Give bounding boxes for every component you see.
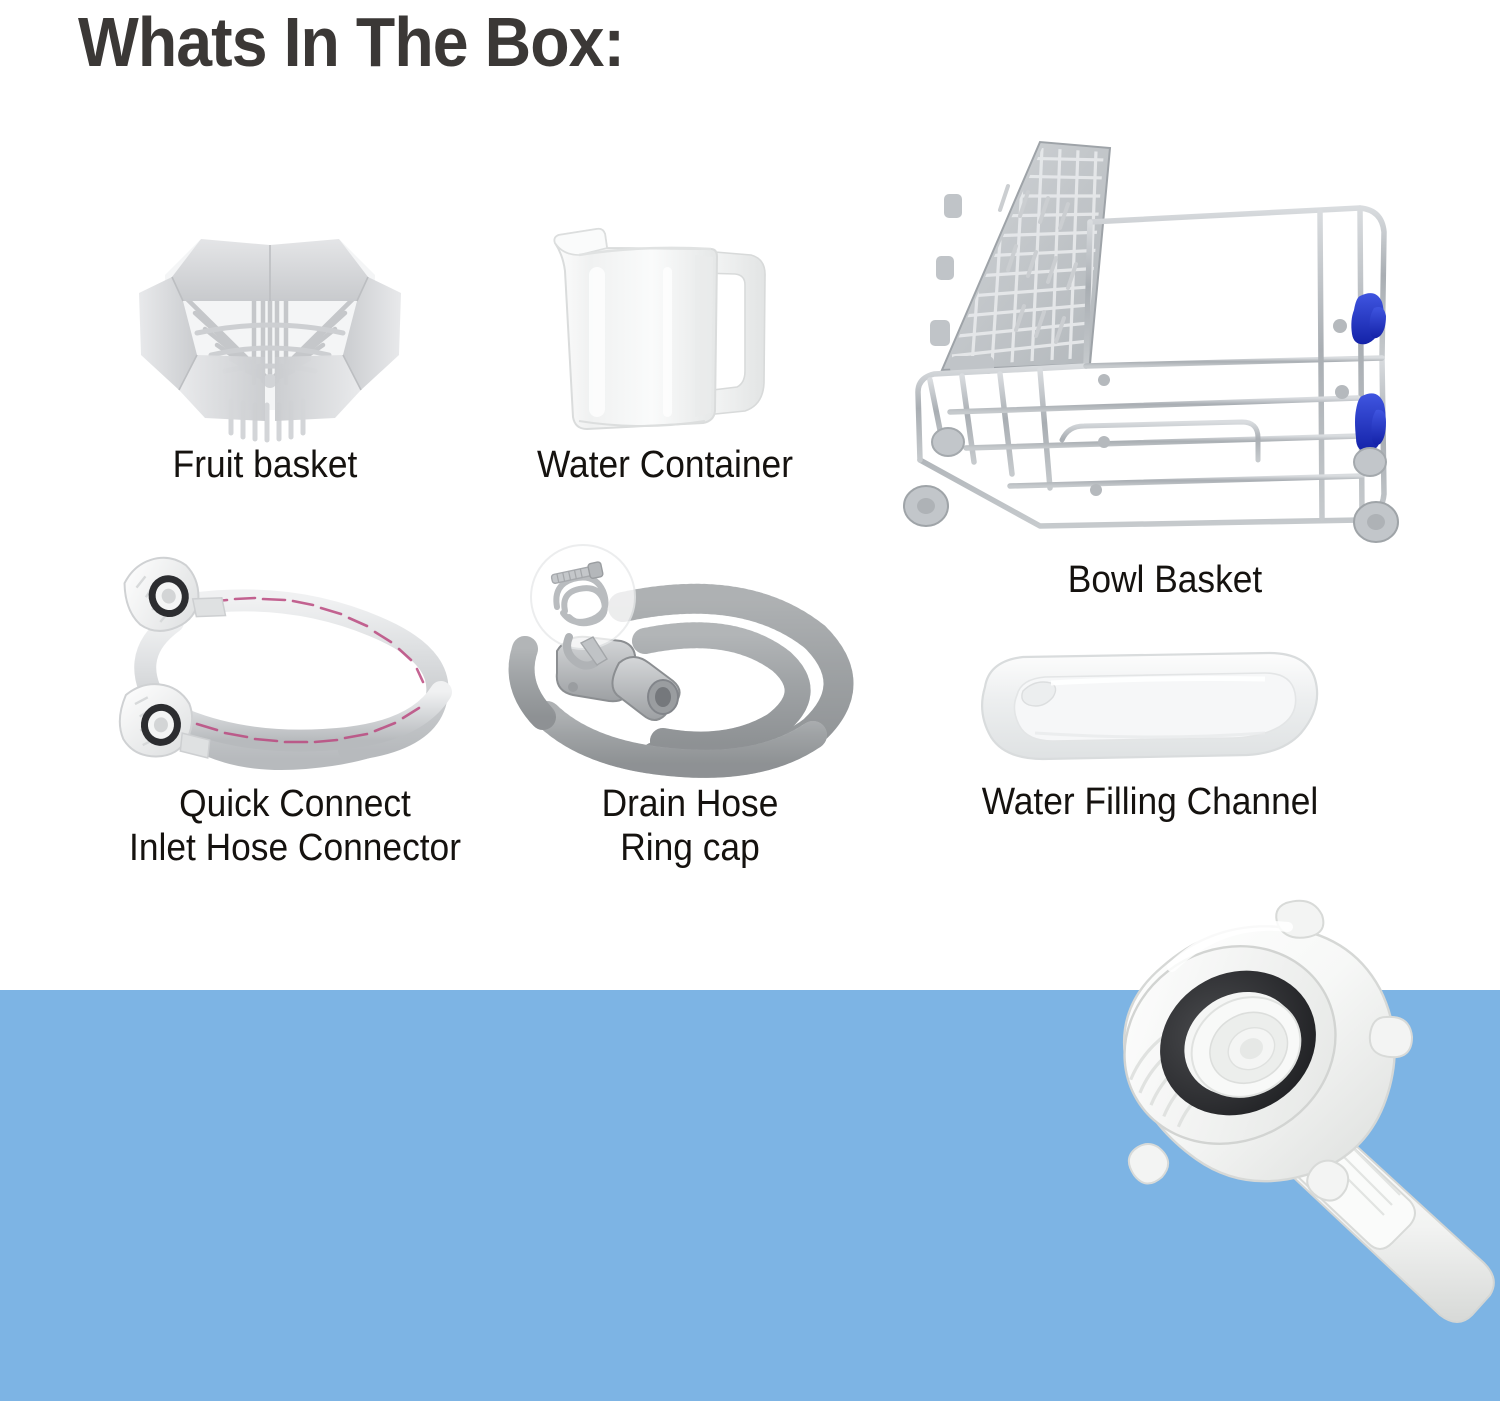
caption-water-container: Water Container [512,443,819,487]
caption-fruit-basket: Fruit basket [126,443,405,487]
fruit-basket-icon [125,205,415,440]
faucet-adapter-icon [1080,895,1500,1335]
caption-bowl-basket: Bowl Basket [988,558,1341,602]
water-container-icon [545,215,780,440]
inlet-hose-icon [105,552,465,777]
infographic-page: Whats In The Box: [0,0,1500,1401]
caption-water-filling-channel: Water Filling Channel [945,780,1354,824]
page-title: Whats In The Box: [78,2,624,82]
bowl-basket-icon [890,130,1420,560]
water-filling-channel-icon [965,645,1335,765]
caption-quick-connect-inlet-hose: Quick Connect Inlet Hose Connector [76,782,513,870]
drain-hose-icon [495,545,870,780]
caption-drain-hose-ring-cap: Drain Hose Ring cap [532,782,848,870]
